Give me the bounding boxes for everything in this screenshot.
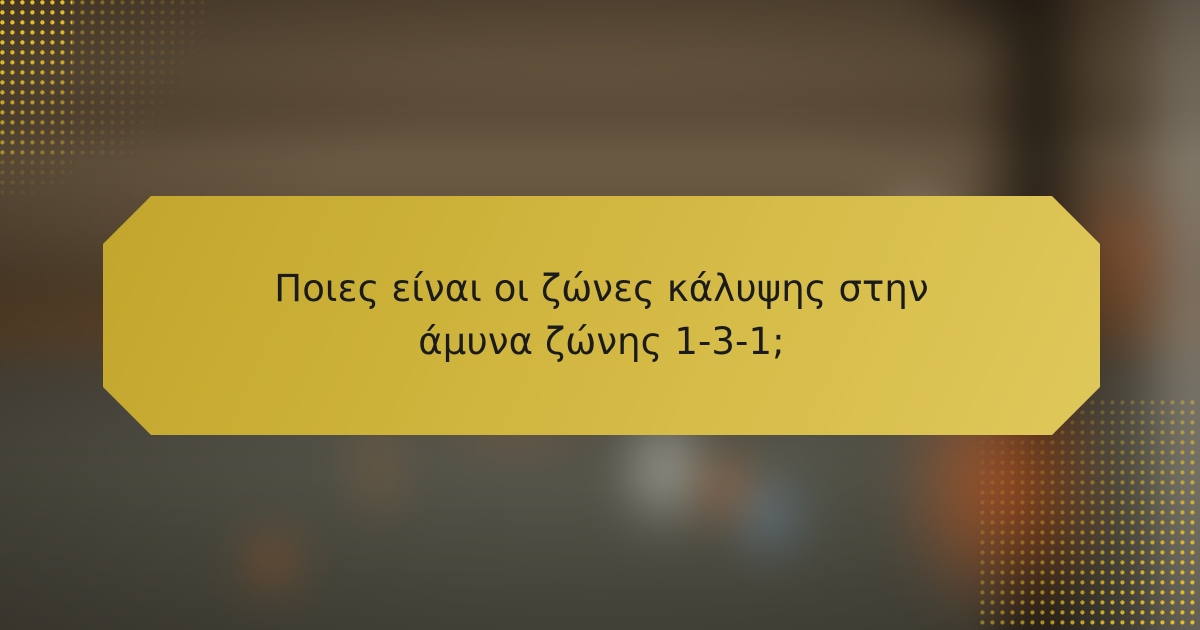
- poster-canvas: Ποιες είναι οι ζώνες κάλυψης στην άμυνα …: [0, 0, 1200, 630]
- question-banner: Ποιες είναι οι ζώνες κάλυψης στην άμυνα …: [103, 196, 1100, 435]
- question-text: Ποιες είναι οι ζώνες κάλυψης στην άμυνα …: [222, 263, 982, 368]
